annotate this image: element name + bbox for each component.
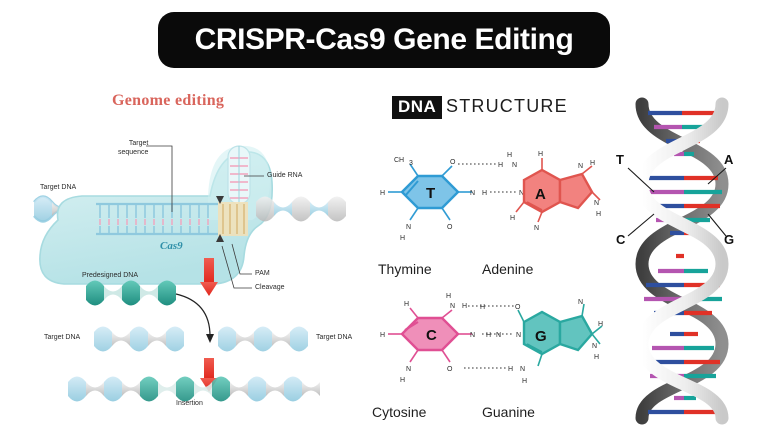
cut-target-dna-right: [218, 327, 308, 352]
svg-text:H: H: [400, 235, 405, 242]
adenine-letter: A: [535, 186, 546, 203]
dna-double-helix: [604, 96, 764, 426]
svg-text:O: O: [447, 366, 453, 373]
page-title: CRISPR-Cas9 Gene Editing: [158, 12, 610, 68]
guide-rna-hairpin: [228, 146, 250, 204]
label-predesigned-dna: Predesigned DNA: [82, 272, 138, 281]
guanine-letter: G: [535, 328, 547, 345]
adenine-ring: A: [524, 170, 592, 212]
svg-text:N: N: [496, 332, 501, 339]
label-target-dna-left: Target DNA: [44, 334, 80, 343]
svg-text:N: N: [512, 162, 517, 169]
svg-text:H: H: [486, 332, 491, 339]
svg-text:H: H: [400, 377, 405, 384]
label-cleavage: Cleavage: [255, 284, 285, 293]
svg-text:H: H: [482, 190, 487, 197]
svg-text:H: H: [598, 321, 603, 328]
dna-badge: DNA: [392, 96, 442, 119]
svg-text:H: H: [596, 211, 601, 218]
thymine-letter: T: [426, 185, 435, 202]
target-dna-right-strand: [256, 197, 346, 222]
svg-text:H: H: [462, 303, 467, 310]
genome-editing-panel: Genome editing: [20, 84, 370, 424]
svg-text:H: H: [380, 332, 385, 339]
genome-editing-illustration: [20, 84, 370, 424]
dna-structure-panel: DNA STRUCTURE T CH3 O H N H: [372, 96, 602, 426]
svg-text:H: H: [507, 152, 512, 159]
dna-helix-panel: T A C G: [604, 96, 764, 426]
guanine-ring: G: [524, 312, 592, 354]
label-pam: PAM: [255, 270, 270, 279]
genome-editing-heading: Genome editing: [112, 92, 224, 110]
svg-text:3: 3: [409, 160, 413, 167]
helix-label-a: A: [724, 152, 733, 167]
dna-structure-heading: STRUCTURE: [446, 96, 568, 117]
svg-text:N: N: [516, 332, 521, 339]
svg-text:N: N: [470, 190, 475, 197]
svg-text:O: O: [515, 304, 521, 311]
svg-text:H: H: [538, 151, 543, 158]
cytosine-ring: C: [402, 318, 458, 350]
helix-label-t: T: [616, 152, 624, 167]
helix-label-c: C: [616, 232, 625, 247]
label-target-dna-right: Target DNA: [316, 334, 352, 343]
label-insertion: Insertion: [176, 400, 203, 409]
svg-text:O: O: [447, 224, 453, 231]
svg-text:N: N: [594, 200, 599, 207]
base-label-cytosine: Cytosine: [372, 404, 426, 420]
svg-text:N: N: [520, 366, 525, 373]
base-pair-cytosine-guanine: C H N H H H N H O N: [372, 292, 602, 402]
svg-text:N: N: [450, 303, 455, 310]
svg-text:N: N: [470, 332, 475, 339]
svg-text:N: N: [406, 366, 411, 373]
svg-text:H: H: [590, 160, 595, 167]
label-guide-rna: Guide RNA: [267, 172, 302, 181]
label-cas9: Cas9: [160, 242, 183, 251]
svg-text:N: N: [534, 225, 539, 232]
svg-text:H: H: [380, 190, 385, 197]
hydrogen-bonds-ta: [458, 164, 518, 192]
svg-text:N: N: [592, 343, 597, 350]
cytosine-letter: C: [426, 327, 437, 344]
svg-text:H: H: [404, 301, 409, 308]
svg-text:N: N: [578, 299, 583, 306]
svg-text:H: H: [510, 215, 515, 222]
thymine-ring: T: [402, 176, 458, 208]
svg-text:H: H: [498, 162, 503, 169]
svg-text:H: H: [480, 304, 485, 311]
svg-text:H: H: [522, 378, 527, 385]
pam-region: [218, 202, 248, 236]
cut-target-dna-left: [94, 327, 184, 352]
svg-text:N: N: [406, 224, 411, 231]
page-title-text: CRISPR-Cas9 Gene Editing: [195, 23, 574, 57]
svg-text:N: N: [578, 163, 583, 170]
poster-canvas: CRISPR-Cas9 Gene Editing Genome editing: [0, 0, 768, 432]
base-label-thymine: Thymine: [378, 261, 432, 277]
label-target-dna-top: Target DNA: [40, 184, 76, 193]
svg-text:H: H: [594, 354, 599, 361]
svg-text:O: O: [450, 159, 456, 166]
svg-text:H: H: [508, 366, 513, 373]
base-label-guanine: Guanine: [482, 404, 535, 420]
base-pair-thymine-adenine: T CH3 O H N H O N H H: [372, 150, 602, 260]
svg-text:H: H: [446, 293, 451, 300]
svg-text:CH: CH: [394, 157, 404, 164]
predesigned-dna-strand: [86, 281, 176, 306]
label-target-sequence: Target sequence: [118, 140, 148, 157]
helix-label-g: G: [724, 232, 734, 247]
inserted-dna-strand: [68, 377, 320, 402]
base-label-adenine: Adenine: [482, 261, 533, 277]
